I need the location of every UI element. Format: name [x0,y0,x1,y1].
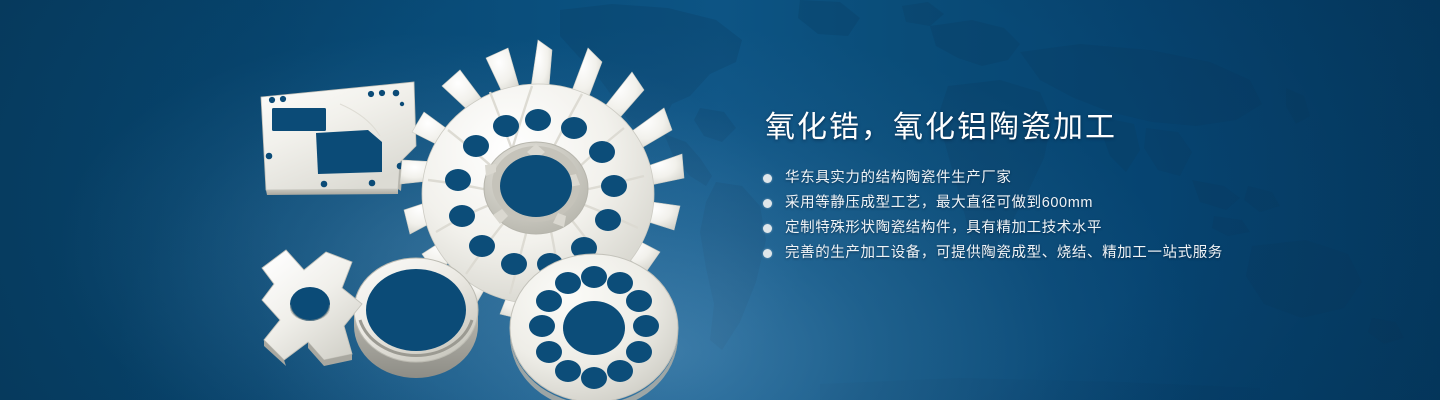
ceramic-processing-banner: 氧化锆，氧化铝陶瓷加工 华东具实力的结构陶瓷件生产厂家 采用等静压成型工艺，最大… [0,0,1440,400]
ceramic-ring-part [354,258,478,378]
ceramic-cross-part [262,250,362,366]
ceramic-perforated-disc-part [510,254,678,400]
list-item: 采用等静压成型工艺，最大直径可做到600mm [763,191,1383,215]
ceramic-products-image [228,38,708,390]
bullet-dot-icon [763,174,772,183]
feature-text: 定制特殊形状陶瓷结构件，具有精加工技术水平 [785,216,1102,240]
feature-list: 华东具实力的结构陶瓷件生产厂家 采用等静压成型工艺，最大直径可做到600mm 定… [763,166,1383,265]
ceramic-plate-part [261,82,418,195]
bullet-dot-icon [763,249,772,258]
list-item: 定制特殊形状陶瓷结构件，具有精加工技术水平 [763,216,1383,240]
feature-text: 完善的生产加工设备，可提供陶瓷成型、烧结、精加工一站式服务 [785,241,1223,265]
feature-text: 采用等静压成型工艺，最大直径可做到600mm [785,191,1093,215]
list-item: 华东具实力的结构陶瓷件生产厂家 [763,166,1383,190]
bullet-dot-icon [763,224,772,233]
banner-copy: 氧化锆，氧化铝陶瓷加工 华东具实力的结构陶瓷件生产厂家 采用等静压成型工艺，最大… [763,108,1383,266]
bullet-dot-icon [763,199,772,208]
page-title: 氧化锆，氧化铝陶瓷加工 [765,108,1383,148]
list-item: 完善的生产加工设备，可提供陶瓷成型、烧结、精加工一站式服务 [763,241,1383,265]
feature-text: 华东具实力的结构陶瓷件生产厂家 [785,166,1012,190]
